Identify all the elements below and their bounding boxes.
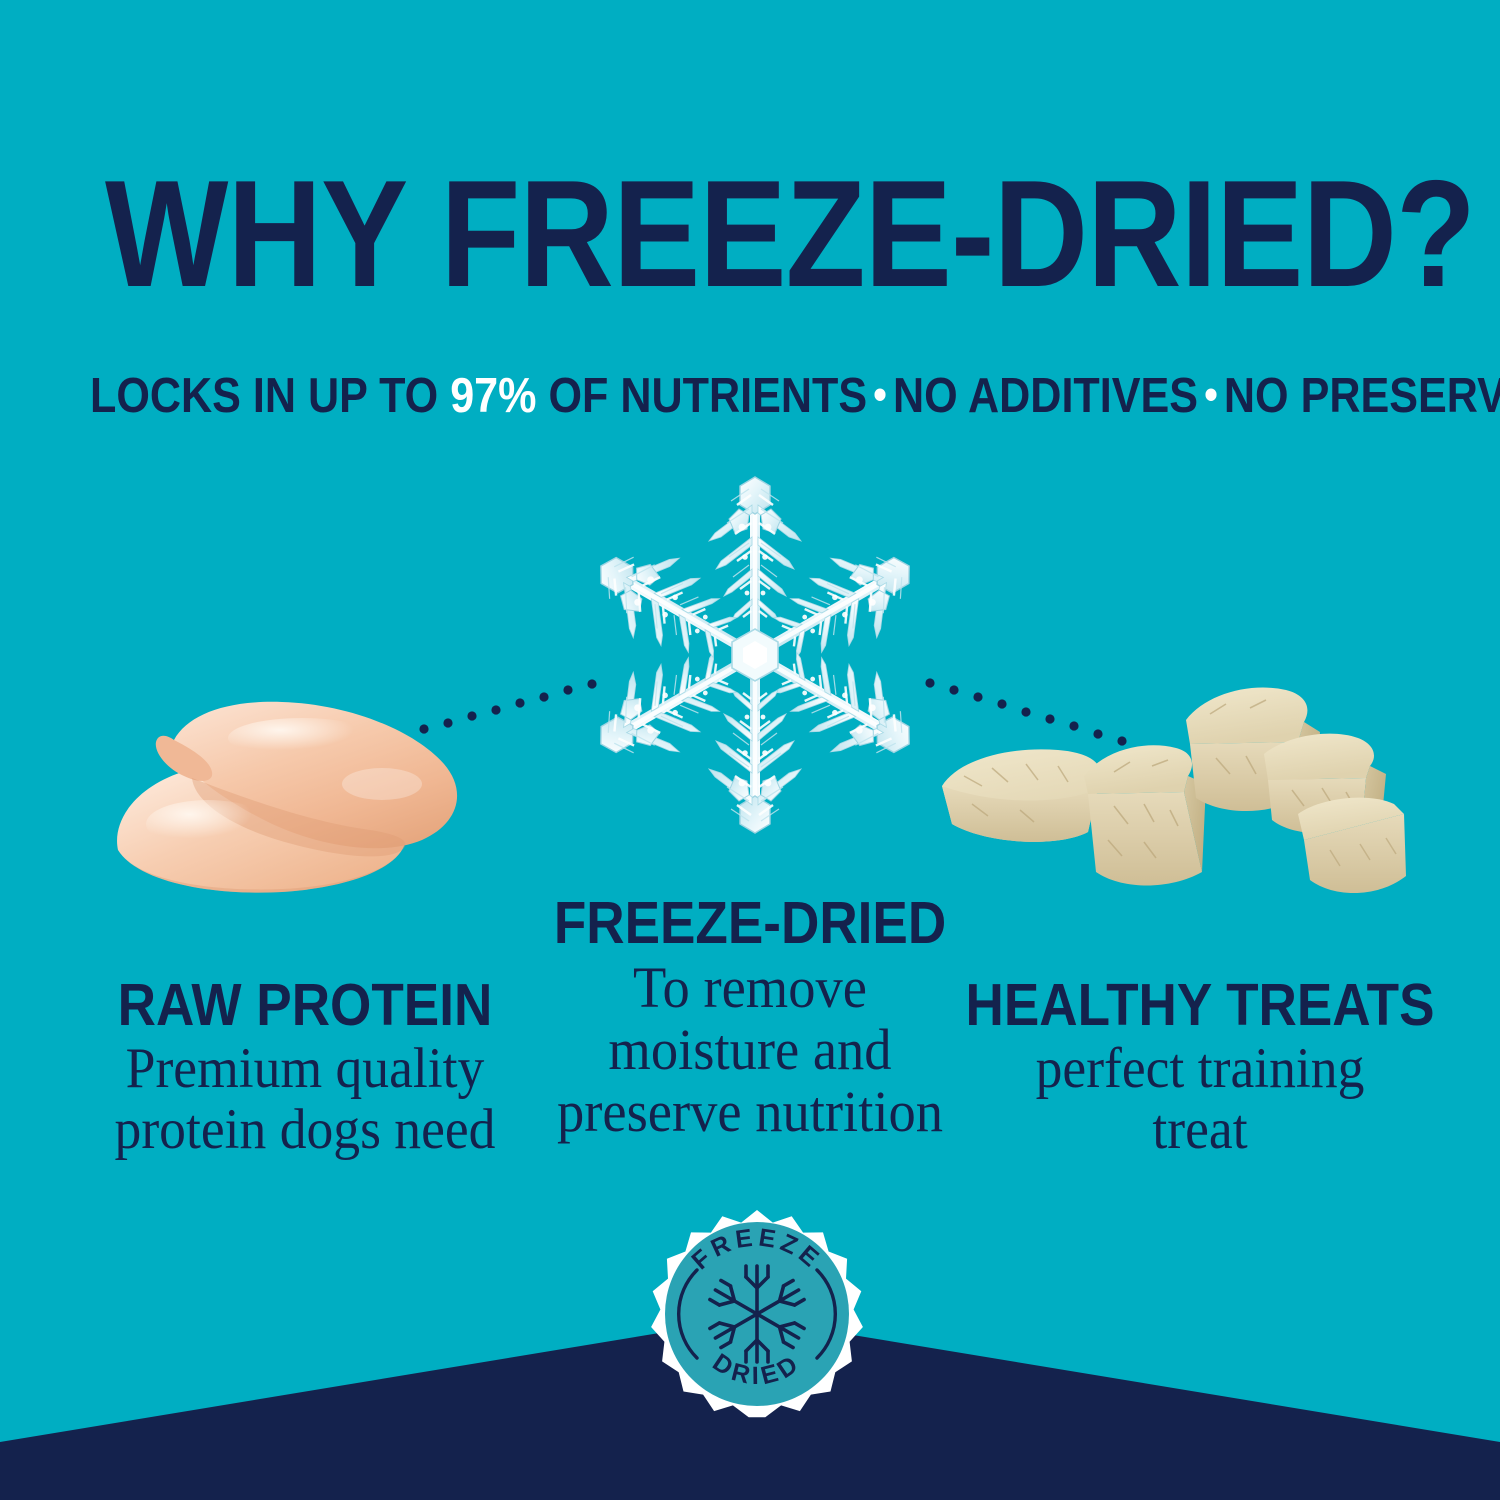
feature-body-raw-protein: Premium qualityprotein dogs need — [56, 1039, 554, 1160]
feature-freeze-dried: FREEZE-DRIED To removemoisture andpreser… — [490, 893, 1010, 1143]
nutrient-percentage: 97% — [450, 369, 536, 423]
infographic-poster: WHY FREEZE-DRIED? LOCKS IN UP TO 97% OF … — [0, 0, 1500, 1500]
feature-healthy-treats: HEALTHY TREATS perfect trainingtreat — [935, 975, 1465, 1160]
feature-heading-raw-protein: RAW PROTEIN — [67, 975, 544, 1035]
subtitle-part2: OF NUTRIENTS — [537, 369, 868, 423]
feature-body-healthy-treats: perfect trainingtreat — [951, 1039, 1449, 1160]
freeze-dried-seal-badge: FREEZE DRIED — [641, 1208, 873, 1440]
claim-no-additives: NO ADDITIVES — [893, 369, 1198, 423]
snowflake-crystal-image — [566, 466, 944, 844]
feature-body-freeze-dried: To removemoisture andpreserve nutrition — [506, 957, 995, 1143]
claim-no-preservatives: NO PRESERVATIVES — [1224, 369, 1500, 423]
bullet-separator-1: • — [867, 370, 893, 419]
page-title: WHY FREEZE-DRIED? — [105, 158, 1395, 310]
raw-chicken-breasts-image — [96, 672, 506, 904]
feature-heading-healthy-treats: HEALTHY TREATS — [962, 975, 1439, 1035]
feature-heading-freeze-dried: FREEZE-DRIED — [516, 893, 984, 953]
subtitle-claims: LOCKS IN UP TO 97% OF NUTRIENTS•NO ADDIT… — [90, 372, 1410, 421]
subtitle-part1: LOCKS IN UP TO — [90, 369, 450, 423]
bullet-separator-2: • — [1198, 370, 1224, 419]
freeze-dried-treat-chunks-image — [938, 664, 1408, 908]
